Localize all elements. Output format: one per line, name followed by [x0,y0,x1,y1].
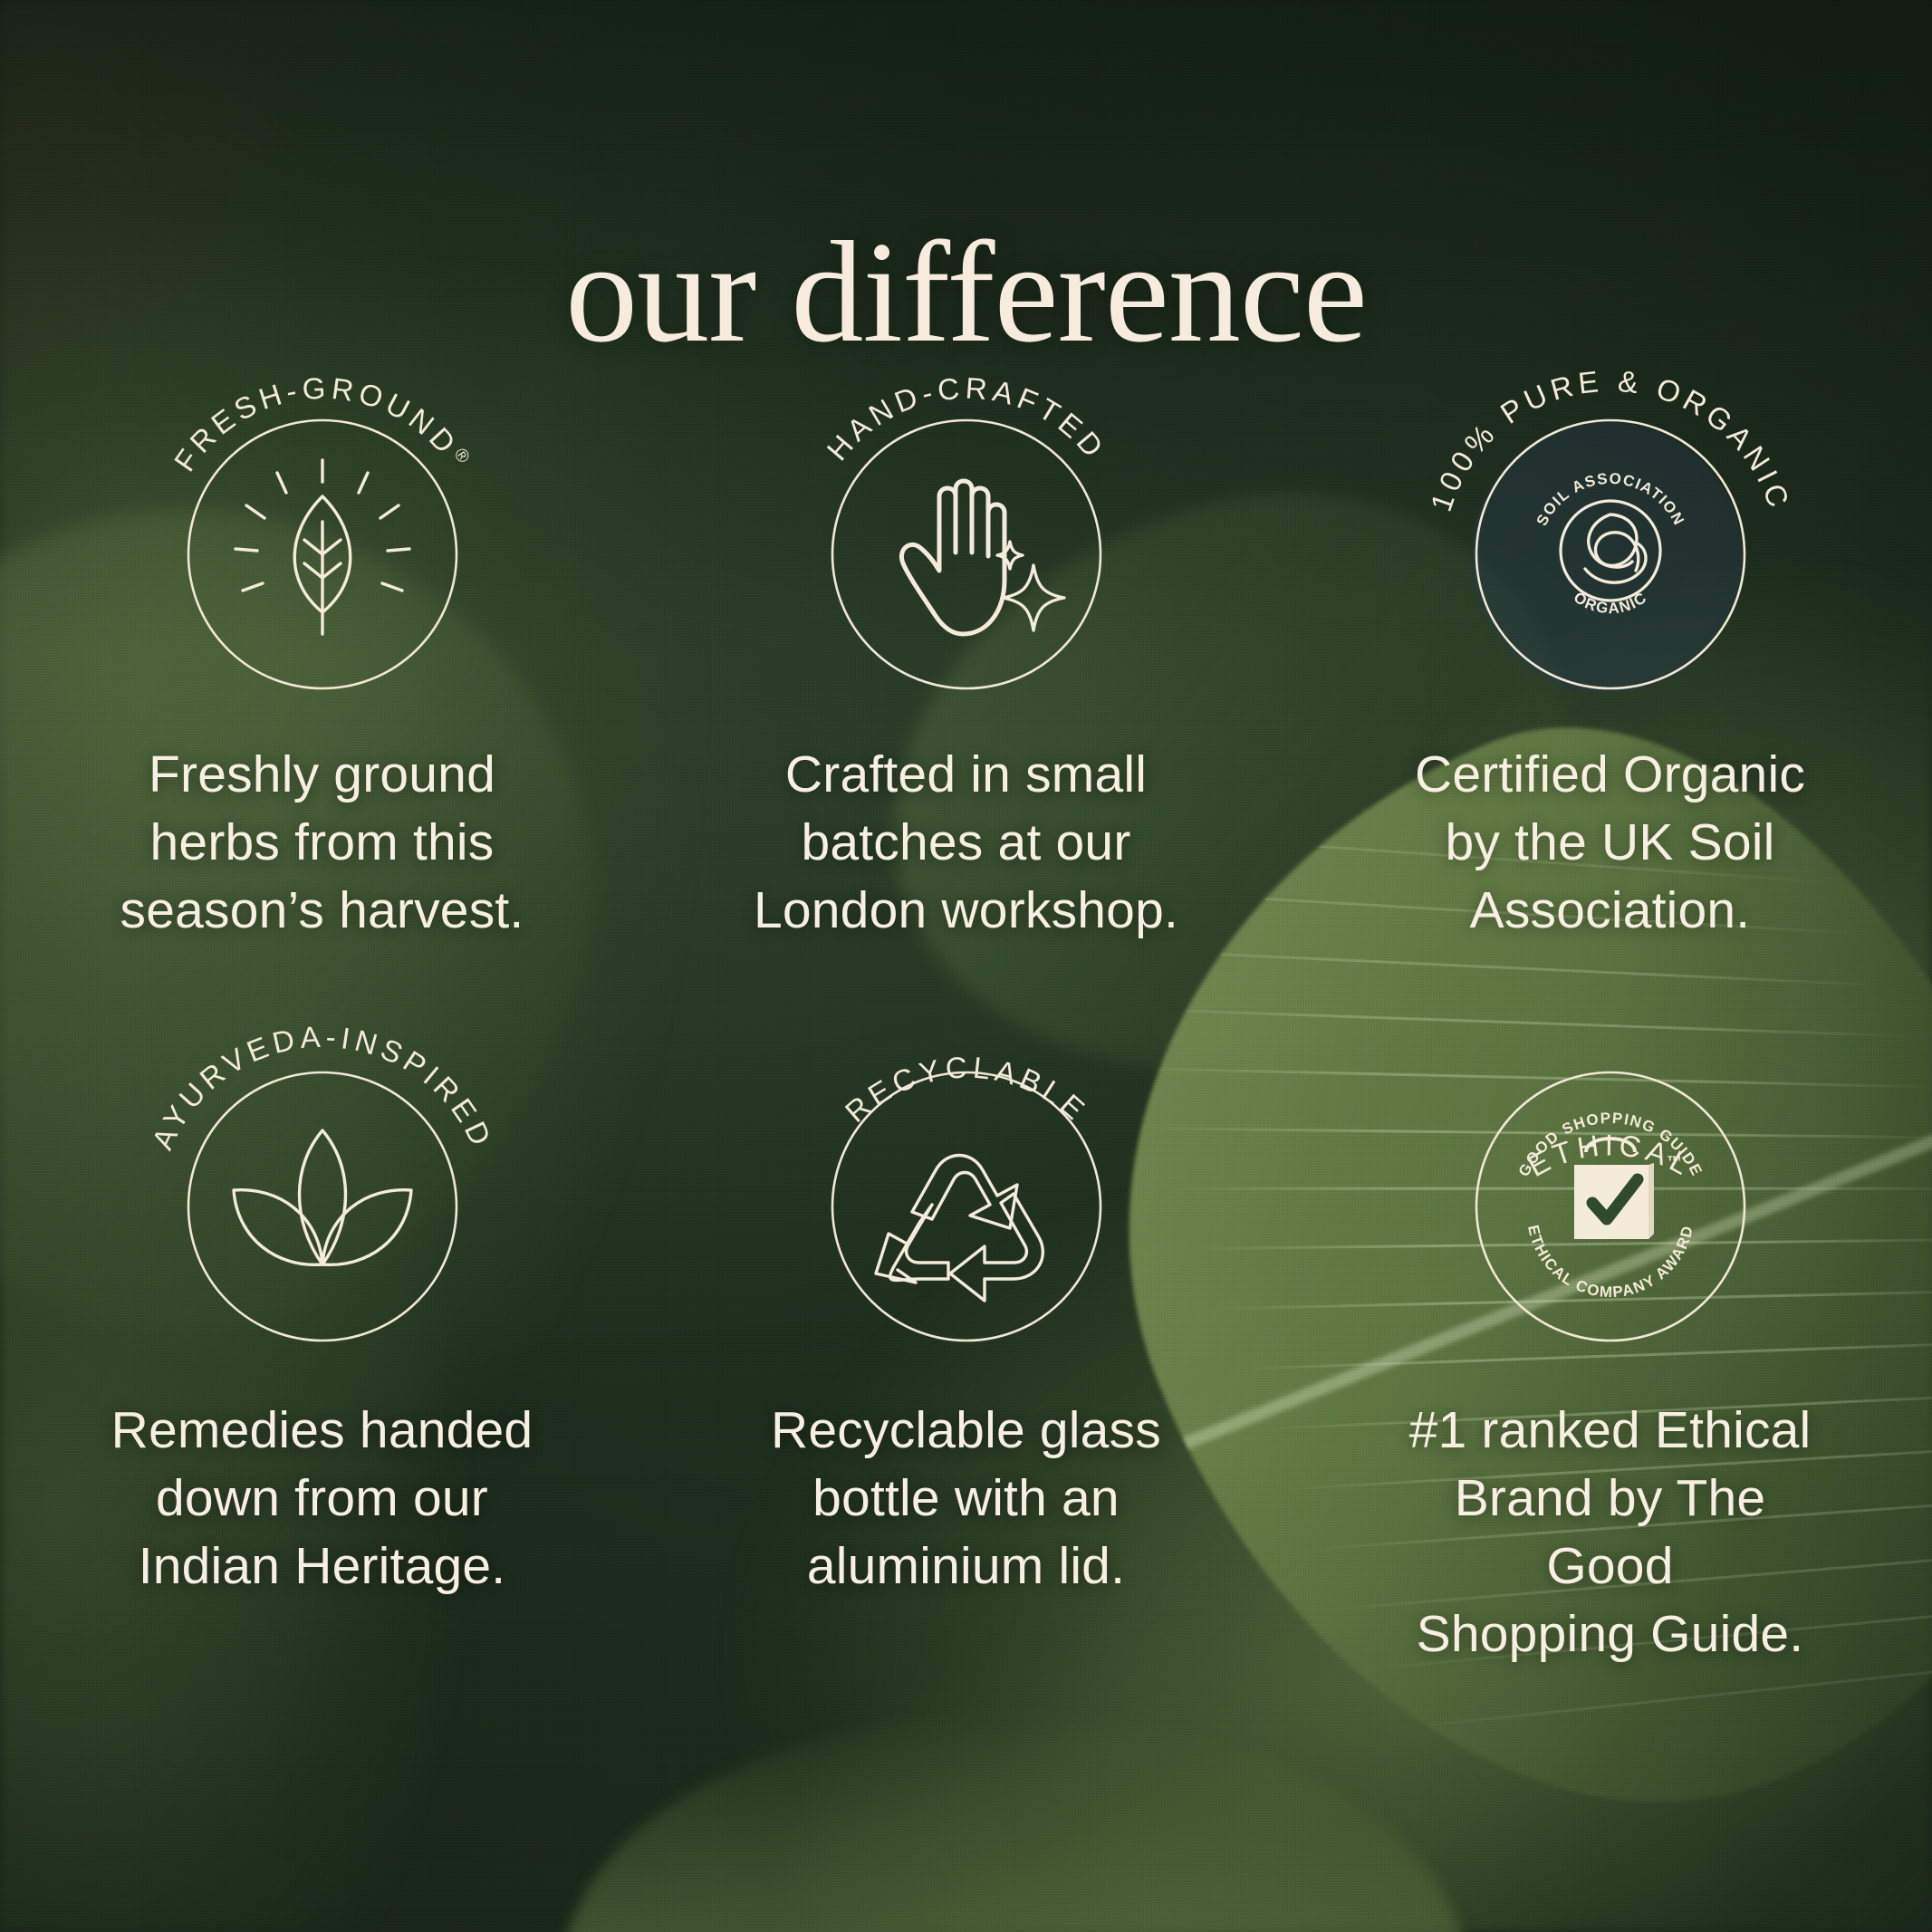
arc-label-ayurveda: AYURVEDA-INSPIRED [145,1019,500,1154]
badge-grid: FRESH-GROUND® [0,344,1932,1669]
caption-recyclable: Recyclable glass bottle with an aluminiu… [754,1397,1179,1601]
radiant-leaf-icon [235,460,409,634]
lotus-leaf-icon [234,1130,411,1264]
badge-pure-organic[interactable]: 100% PURE & ORGANIC SOIL ASSOCIATION ORG… [1420,344,1801,725]
open-hand-sparkle-icon [901,481,1064,634]
badge-cell-pure-organic: 100% PURE & ORGANIC SOIL ASSOCIATION ORG… [1288,344,1932,946]
page-title: our difference [0,219,1932,364]
gsg-trademark: ™ [1667,1153,1683,1170]
recycling-arrows-icon [876,1155,1043,1301]
badge-cell-ethical: ETHICAL GOOD SHOPPING GUIDE ETHICAL COMP… [1288,964,1932,1669]
badge-cell-ayurveda: AYURVEDA-INSPIRED Remedies handed down f… [0,964,644,1669]
caption-ayurveda: Remedies handed down from our Indian Her… [110,1397,535,1601]
badge-cell-fresh-ground: FRESH-GROUND® [0,344,644,946]
arc-label-hand-crafted: HAND-CRAFTED [820,370,1112,466]
caption-ethical: #1 ranked Ethical Brand by The Good Shop… [1398,1397,1823,1669]
badge-ethical[interactable]: ETHICAL GOOD SHOPPING GUIDE ETHICAL COMP… [1420,996,1801,1377]
good-shopping-guide-award-icon: GOOD SHOPPING GUIDE ETHICAL COMPANY AWAR… [1514,1110,1705,1301]
badge-ayurveda-inspired[interactable]: AYURVEDA-INSPIRED [132,996,513,1377]
badge-fresh-ground[interactable]: FRESH-GROUND® [132,344,513,725]
badge-hand-crafted[interactable]: HAND-CRAFTED [776,344,1157,725]
caption-pure-organic: Certified Organic by the UK Soil Associa… [1398,741,1823,946]
caption-fresh-ground: Freshly ground herbs from this season’s … [110,741,535,946]
arc-label-recyclable: RECYCLABLE [838,1050,1094,1129]
badge-cell-hand-crafted: HAND-CRAFTED Crafted in small batches at… [644,344,1288,946]
badge-recyclable[interactable]: RECYCLABLE [776,996,1157,1377]
our-difference-panel: our difference FRESH-GROUND® [0,0,1932,1932]
badge-cell-recyclable: RECYCLABLE Recyclable glass bottle with … [644,964,1288,1669]
caption-hand-crafted: Crafted in small batches at our London w… [754,741,1179,946]
